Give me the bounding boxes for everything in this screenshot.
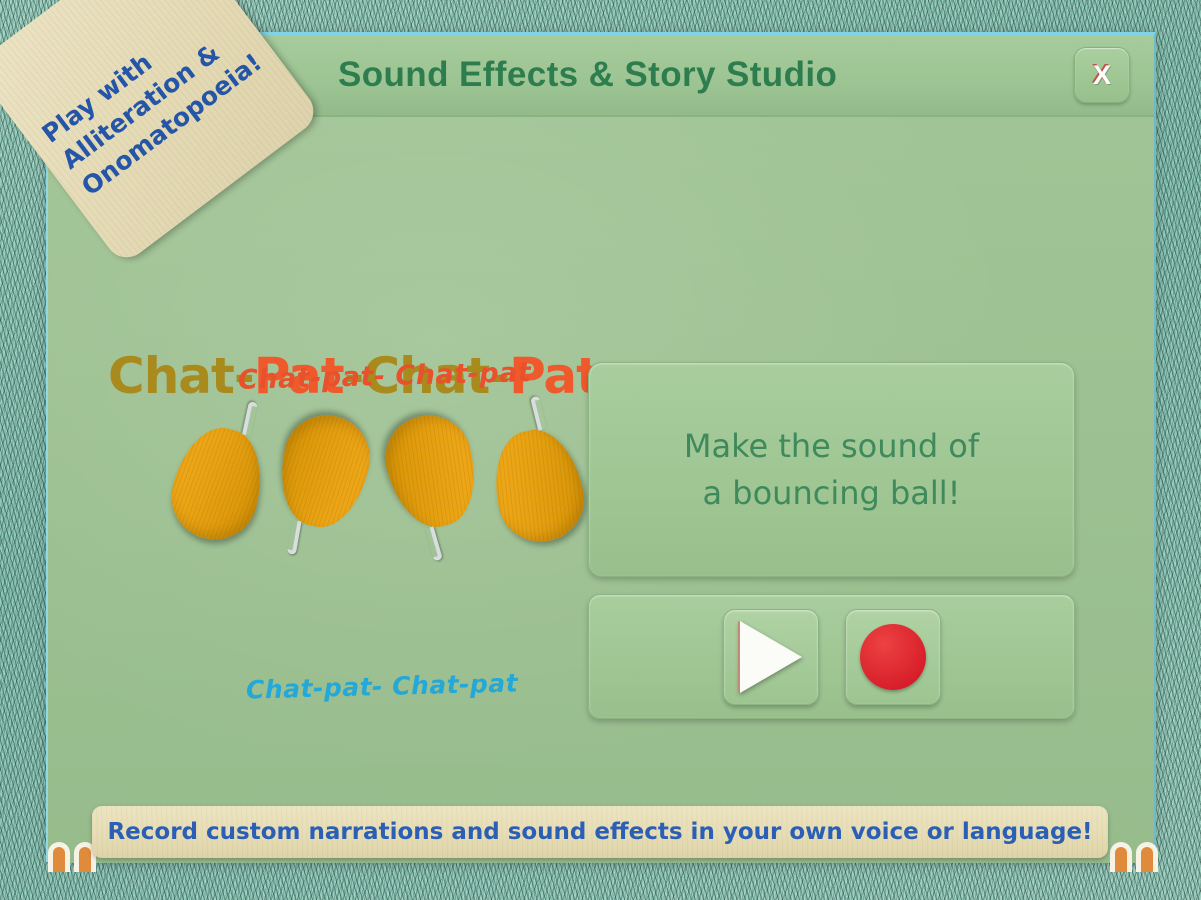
- clapper-body: [376, 406, 487, 535]
- prompt-text: Make the sound of a bouncing ball!: [664, 423, 999, 516]
- play-triangle-icon: [740, 621, 802, 693]
- desktop-background: Sound Effects & Story Studio X Chat-pat-…: [0, 0, 1201, 900]
- play-button[interactable]: [723, 609, 819, 705]
- arch-shape: [1110, 842, 1132, 872]
- record-button[interactable]: [845, 609, 941, 705]
- prompt-line-2: a bouncing ball!: [684, 470, 979, 516]
- footer-banner: Record custom narrations and sound effec…: [92, 806, 1108, 858]
- prompt-card: Make the sound of a bouncing ball!: [588, 362, 1075, 577]
- sticky-note-text: Play with Alliteration & Onomatopoeia!: [35, 0, 270, 203]
- clapper-body: [162, 419, 273, 548]
- metal-hook-icon: [287, 520, 302, 555]
- corner-ornament-right-icon: [1110, 836, 1162, 872]
- wooden-clapper-3[interactable]: [376, 405, 490, 547]
- wooden-clapper-4[interactable]: [482, 410, 592, 550]
- page-title: Sound Effects & Story Studio: [338, 55, 837, 95]
- wooden-clapper-1[interactable]: [162, 407, 276, 549]
- close-x-icon: X: [1093, 62, 1111, 89]
- wooden-clapper-2[interactable]: [268, 406, 378, 546]
- record-circle-icon: [860, 624, 926, 690]
- echo-main-seg-1: Chat-: [108, 347, 254, 405]
- prompt-line-1: Make the sound of: [684, 423, 979, 469]
- echo-text-bottom: Chat-pat- Chat-pat: [246, 668, 519, 704]
- close-button[interactable]: X: [1074, 47, 1130, 103]
- arch-shape: [48, 842, 70, 872]
- window-body: Chat-pat- Chat-pat: [48, 117, 1154, 863]
- arch-shape: [1136, 842, 1158, 872]
- clapper-body: [484, 422, 591, 549]
- metal-hook-icon: [242, 401, 258, 436]
- wooden-clappers-group: [158, 402, 618, 567]
- metal-hook-icon: [425, 526, 443, 561]
- footer-text: Record custom narrations and sound effec…: [107, 819, 1092, 845]
- sound-illustration: Chat-pat- Chat-pat: [108, 347, 608, 747]
- transport-bar: [588, 594, 1075, 719]
- clapper-body: [270, 407, 377, 534]
